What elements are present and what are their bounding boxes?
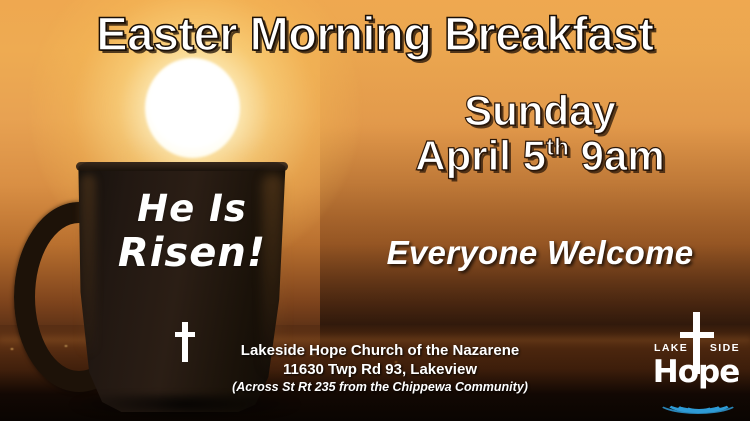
venue-street: 11630 Twp Rd 93, Lakeview <box>195 361 565 380</box>
event-date-ordinal: th <box>546 134 569 161</box>
mug-ground-shadow <box>72 394 298 420</box>
event-datetime: Sunday April 5th 9am <box>350 90 730 178</box>
mug-message-line-2: Risen! <box>92 233 292 273</box>
page-title: Easter Morning Breakfast <box>0 6 750 61</box>
logo-wordmark: Hope <box>648 354 744 390</box>
mug-rim <box>76 162 288 171</box>
welcome-message: Everyone Welcome <box>350 234 730 272</box>
lakeside-hope-logo: LAKE SIDE Hope <box>648 312 744 412</box>
easter-breakfast-poster: He Is Risen! Easter Morning Breakfast Su… <box>0 0 750 421</box>
venue-name: Lakeside Hope Church of the Nazarene <box>195 342 565 361</box>
logo-word-side: SIDE <box>710 342 740 354</box>
event-date-line: April 5th 9am <box>350 135 730 178</box>
event-date: April 5 <box>415 132 546 179</box>
mug-message: He Is Risen! <box>92 190 292 273</box>
venue-address: Lakeside Hope Church of the Nazarene 116… <box>195 342 565 395</box>
logo-word-lake: LAKE <box>654 342 688 354</box>
venue-directions: (Across St Rt 235 from the Chippewa Comm… <box>195 380 565 396</box>
water-ripple-icon <box>648 388 744 414</box>
mug-message-line-1: He Is <box>92 190 292 227</box>
event-time: 9am <box>569 132 665 179</box>
sun-disc <box>145 58 240 158</box>
cross-icon <box>175 322 195 362</box>
event-day: Sunday <box>350 90 730 133</box>
